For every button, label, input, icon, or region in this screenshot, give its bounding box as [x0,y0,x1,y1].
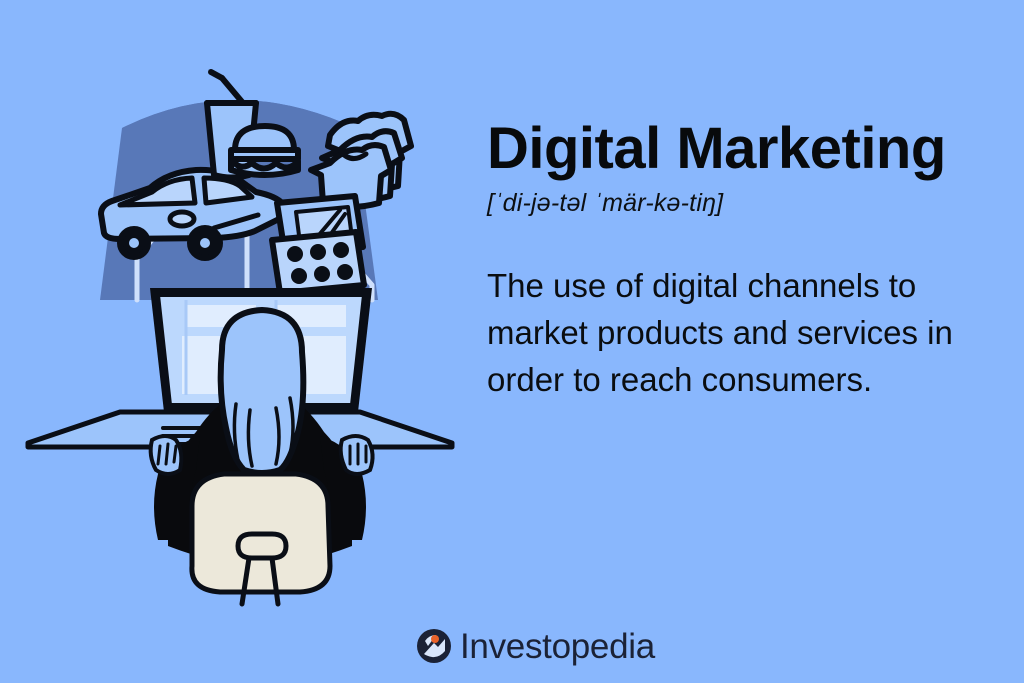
investopedia-wordmark: Investopedia [460,629,655,664]
definition-graphic: Digital Marketing [ˈdi-jə-təl ˈmär-kə-ti… [0,0,1024,683]
makeup-palette-icon [272,196,364,293]
definition-text: The use of digital channels to market pr… [487,263,957,404]
illustration [0,0,470,620]
text-column: Digital Marketing [ˈdi-jə-təl ˈmär-kə-ti… [487,118,987,404]
burger-icon [231,126,298,175]
office-chair [192,474,330,604]
investopedia-logo: Investopedia [415,627,655,665]
pronunciation-text: [ˈdi-jə-təl ˈmär-kə-tiŋ] [487,189,987,218]
page-title: Digital Marketing [487,118,987,179]
investopedia-logo-icon [415,627,453,665]
